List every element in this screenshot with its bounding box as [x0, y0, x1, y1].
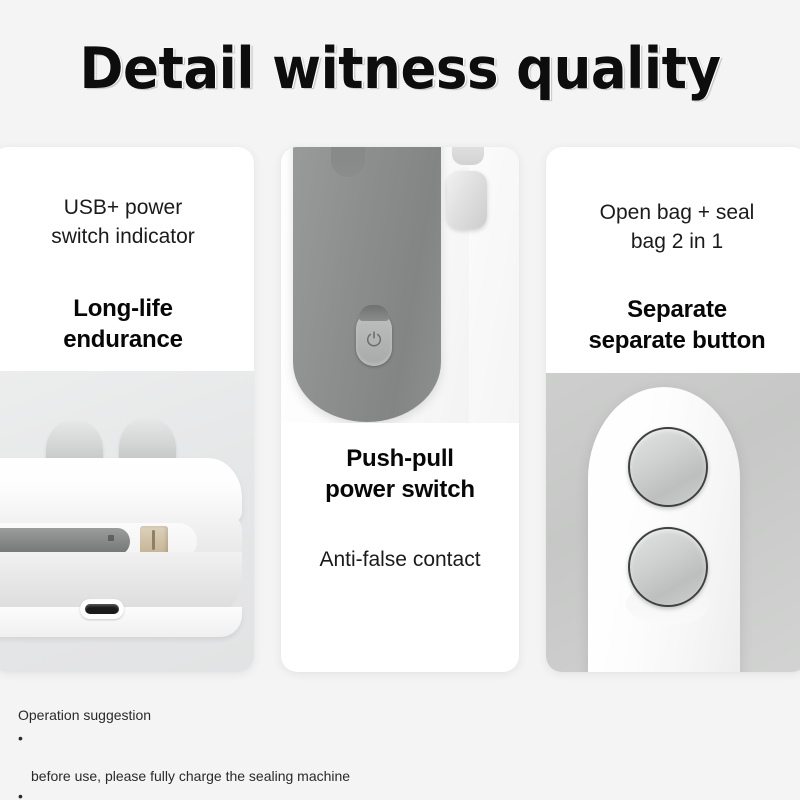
card-2-caption-regular: Anti-false contact [291, 545, 509, 574]
panel-groove [331, 147, 365, 177]
card-1-captions: USB+ power switch indicator Long-life en… [0, 193, 254, 355]
card-1-product-photo [0, 371, 254, 672]
power-icon: ⏻ [356, 331, 392, 350]
usb-c-port-icon [80, 599, 124, 619]
device-top-tab [452, 147, 484, 165]
device-arch-face [588, 387, 740, 672]
separate-button-bottom[interactable] [628, 527, 708, 607]
sealer-heating-bar [0, 528, 130, 555]
sealer-body-upper [0, 458, 242, 522]
card-2-captions: Push-pull power switch Anti-false contac… [281, 443, 519, 574]
operation-suggestion-item-text: before use, please fully charge the seal… [31, 768, 350, 784]
operation-suggestion-list: • before use, please fully charge the se… [18, 729, 518, 800]
bullet-icon: • [18, 729, 23, 748]
feature-card-grid: USB+ power switch indicator Long-life en… [0, 147, 800, 672]
feature-card-usb-power-indicator[interactable]: USB+ power switch indicator Long-life en… [0, 147, 254, 672]
operation-suggestion: Operation suggestion • before use, pleas… [18, 705, 518, 800]
feature-card-separate-button[interactable]: Open bag + seal bag 2 in 1 Separate sepa… [546, 147, 800, 672]
operation-suggestion-title: Operation suggestion [18, 705, 518, 725]
operation-suggestion-item: • Open the side switch, start to seal th… [18, 787, 518, 800]
card-1-caption-bold: Long-life endurance [2, 293, 244, 355]
push-pull-power-switch[interactable]: ⏻ [356, 311, 392, 366]
card-2-caption-bold: Push-pull power switch [291, 443, 509, 505]
operation-suggestion-item: • before use, please fully charge the se… [18, 729, 518, 786]
feature-card-push-pull-power-switch[interactable]: ⏻ Push-pull power switch Anti-false cont… [281, 147, 519, 672]
card-3-product-photo [546, 373, 800, 672]
card-3-captions: Open bag + seal bag 2 in 1 Separate sepa… [546, 198, 800, 356]
page-title: Detail witness quality [28, 36, 772, 102]
device-gray-side-panel: ⏻ [293, 147, 441, 422]
device-side-release-tab [447, 171, 487, 229]
card-2-product-photo: ⏻ [281, 147, 519, 423]
card-1-caption-regular: USB+ power switch indicator [2, 193, 244, 251]
bullet-icon: • [18, 787, 23, 800]
card-3-caption-bold: Separate separate button [556, 294, 798, 356]
card-3-caption-regular: Open bag + seal bag 2 in 1 [556, 198, 798, 256]
separate-button-top[interactable] [628, 427, 708, 507]
